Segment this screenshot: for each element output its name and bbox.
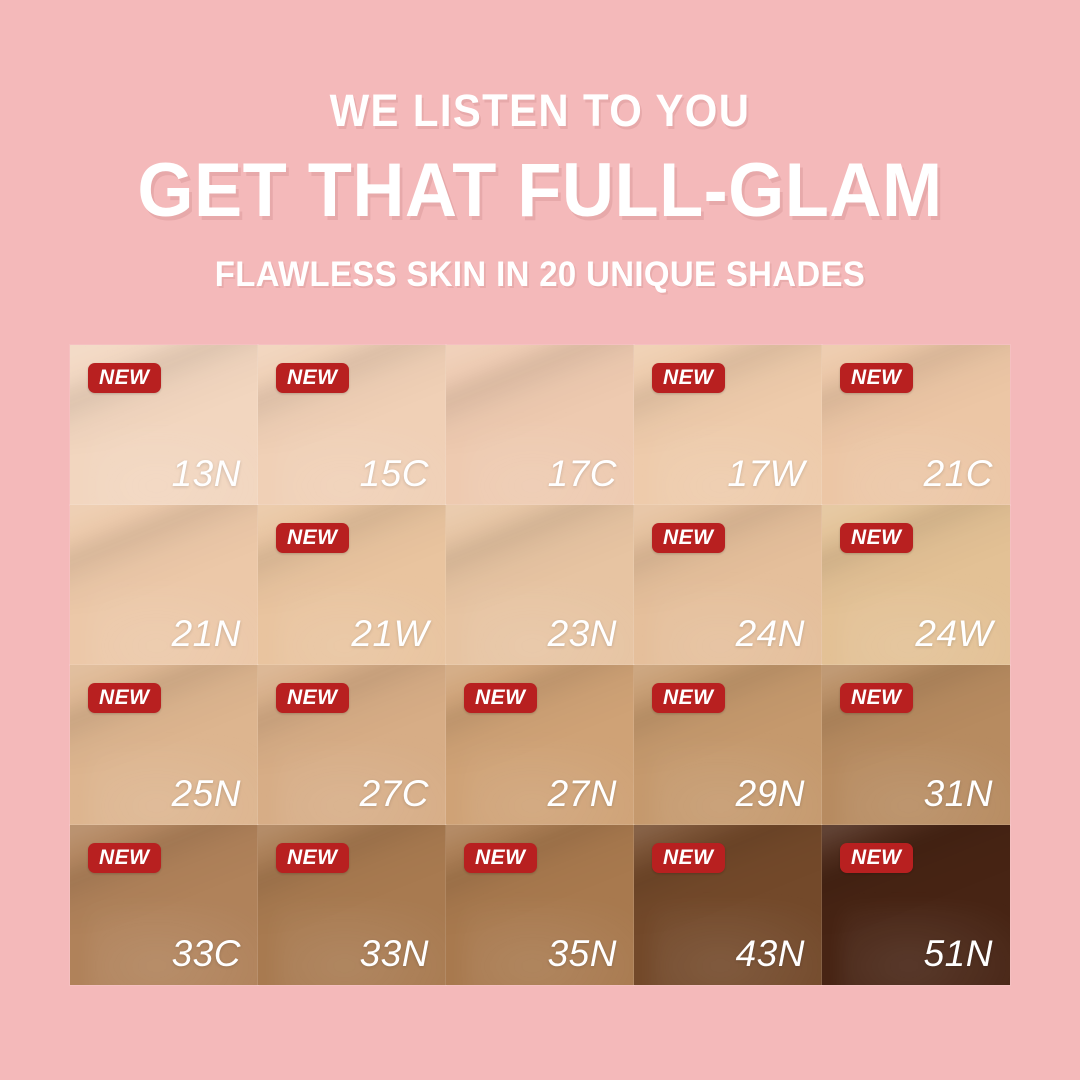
foundation-smear-texture <box>258 665 446 769</box>
shade-swatch-grid: NEW13NNEW15CNEW17CNEW17WNEW21CNEW21NNEW2… <box>70 345 1010 985</box>
shade-name-label: 17C <box>548 455 617 492</box>
shade-name-label: 17W <box>727 455 805 492</box>
foundation-smear-texture <box>446 825 634 929</box>
shade-swatch[interactable]: NEW27N <box>446 665 634 825</box>
new-badge: NEW <box>652 683 725 713</box>
shade-swatch[interactable]: NEW24N <box>634 505 822 665</box>
shade-swatch[interactable]: NEW43N <box>634 825 822 985</box>
eyebrow-text: WE LISTEN TO YOU <box>38 88 1042 133</box>
shade-swatch[interactable]: NEW23N <box>446 505 634 665</box>
new-badge: NEW <box>652 843 725 873</box>
shade-swatch[interactable]: NEW51N <box>822 825 1010 985</box>
shade-name-label: 23N <box>548 615 617 652</box>
new-badge: NEW <box>652 363 725 393</box>
shade-name-label: 21N <box>172 615 241 652</box>
new-badge: NEW <box>276 523 349 553</box>
shade-swatch[interactable]: NEW21C <box>822 345 1010 505</box>
shade-name-label: 35N <box>548 935 617 972</box>
headings-block: WE LISTEN TO YOU GET THAT FULL-GLAM FLAW… <box>0 0 1080 292</box>
foundation-smear-texture <box>634 665 822 769</box>
shade-name-label: 25N <box>172 775 241 812</box>
foundation-smear-texture <box>70 505 258 609</box>
foundation-smear-texture <box>634 505 822 609</box>
shade-swatch[interactable]: NEW17W <box>634 345 822 505</box>
shade-swatch[interactable]: NEW13N <box>70 345 258 505</box>
foundation-smear-texture <box>822 825 1010 929</box>
foundation-smear-texture <box>258 345 446 449</box>
new-badge: NEW <box>276 683 349 713</box>
new-badge: NEW <box>276 843 349 873</box>
foundation-smear-texture <box>822 505 1010 609</box>
shade-swatch[interactable]: NEW21W <box>258 505 446 665</box>
headline-text: GET THAT FULL-GLAM <box>27 153 1053 229</box>
shade-swatch[interactable]: NEW21N <box>70 505 258 665</box>
shade-swatch[interactable]: NEW33N <box>258 825 446 985</box>
foundation-smear-texture <box>446 505 634 609</box>
shade-name-label: 43N <box>736 935 805 972</box>
foundation-smear-texture <box>258 825 446 929</box>
shade-swatch[interactable]: NEW33C <box>70 825 258 985</box>
foundation-smear-texture <box>822 665 1010 769</box>
shade-swatch[interactable]: NEW15C <box>258 345 446 505</box>
foundation-smear-texture <box>634 825 822 929</box>
new-badge: NEW <box>840 363 913 393</box>
new-badge: NEW <box>652 523 725 553</box>
shade-swatch[interactable]: NEW31N <box>822 665 1010 825</box>
foundation-smear-texture <box>70 345 258 449</box>
shade-range-poster: WE LISTEN TO YOU GET THAT FULL-GLAM FLAW… <box>0 0 1080 1080</box>
foundation-smear-texture <box>446 665 634 769</box>
shade-name-label: 24N <box>736 615 805 652</box>
foundation-smear-texture <box>634 345 822 449</box>
foundation-smear-texture <box>822 345 1010 449</box>
shade-swatch[interactable]: NEW24W <box>822 505 1010 665</box>
shade-swatch[interactable]: NEW27C <box>258 665 446 825</box>
foundation-smear-texture <box>70 825 258 929</box>
new-badge: NEW <box>464 683 537 713</box>
shade-name-label: 24W <box>915 615 993 652</box>
shade-swatch[interactable]: NEW17C <box>446 345 634 505</box>
shade-name-label: 29N <box>736 775 805 812</box>
shade-name-label: 51N <box>924 935 993 972</box>
new-badge: NEW <box>88 843 161 873</box>
subhead-text: FLAWLESS SKIN IN 20 UNIQUE SHADES <box>32 257 1047 292</box>
shade-name-label: 13N <box>172 455 241 492</box>
shade-swatch[interactable]: NEW29N <box>634 665 822 825</box>
foundation-smear-texture <box>446 345 634 449</box>
foundation-smear-texture <box>258 505 446 609</box>
shade-name-label: 31N <box>924 775 993 812</box>
new-badge: NEW <box>276 363 349 393</box>
shade-name-label: 27C <box>360 775 429 812</box>
shade-swatch[interactable]: NEW35N <box>446 825 634 985</box>
new-badge: NEW <box>464 843 537 873</box>
shade-name-label: 33N <box>360 935 429 972</box>
new-badge: NEW <box>840 683 913 713</box>
new-badge: NEW <box>840 843 913 873</box>
shade-name-label: 21W <box>351 615 429 652</box>
new-badge: NEW <box>840 523 913 553</box>
shade-name-label: 33C <box>172 935 241 972</box>
new-badge: NEW <box>88 363 161 393</box>
shade-name-label: 27N <box>548 775 617 812</box>
shade-name-label: 15C <box>360 455 429 492</box>
new-badge: NEW <box>88 683 161 713</box>
foundation-smear-texture <box>70 665 258 769</box>
shade-name-label: 21C <box>924 455 993 492</box>
shade-swatch[interactable]: NEW25N <box>70 665 258 825</box>
